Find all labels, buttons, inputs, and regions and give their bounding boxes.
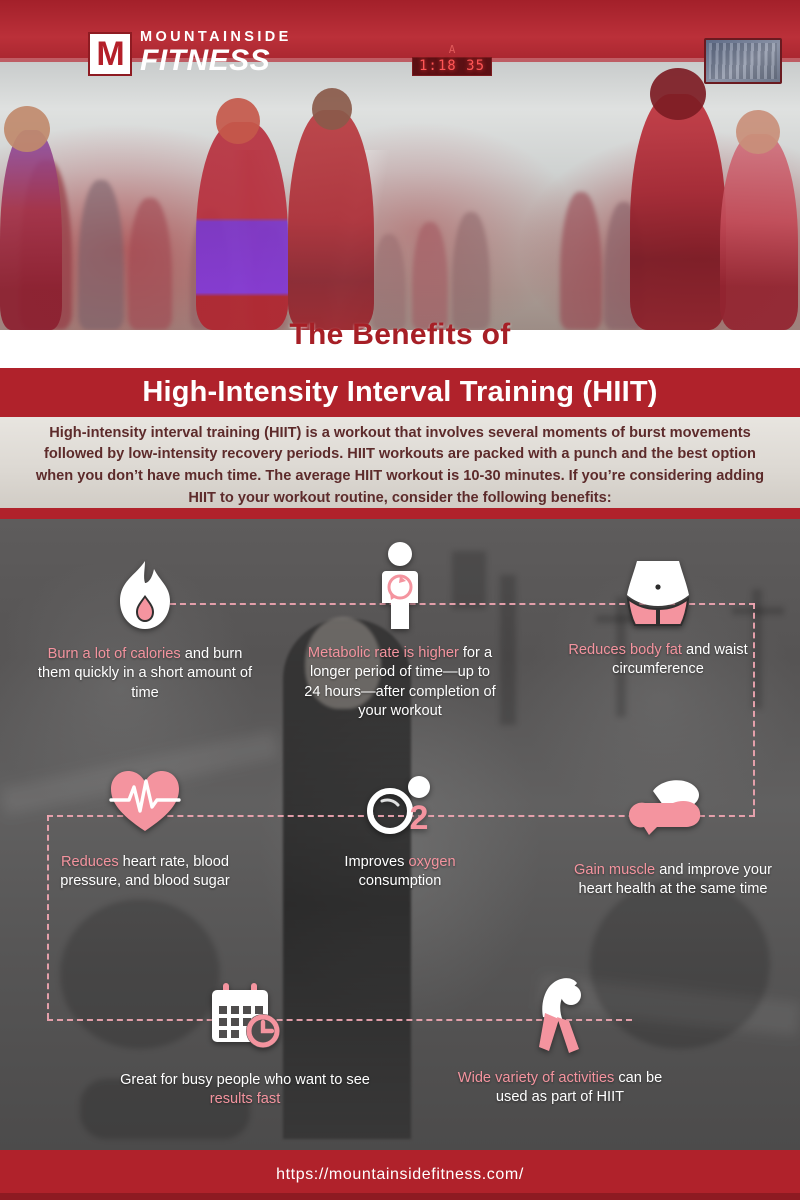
benefit-rest: consumption (359, 873, 442, 889)
benefit-heart-health: Reduces heart rate, blood pressure, and … (30, 767, 260, 892)
heart-pulse-icon (107, 767, 183, 835)
logo-text-top: MOUNTAINSIDE (140, 30, 292, 45)
benefit-time-efficient: Great for busy people who want to see re… (120, 981, 370, 1110)
benefit-prefix: Great for busy people who want to see (120, 1072, 370, 1088)
benefit-highlight: Burn a lot of calories (48, 646, 181, 662)
benefit-highlight: Reduces (61, 854, 119, 870)
benefit-highlight: oxygen (409, 854, 456, 870)
intro-divider-bar (0, 508, 800, 519)
benefit-muscle: Gain muscle and improve your heart healt… (568, 777, 778, 900)
title-line-1: The Benefits of (0, 318, 800, 352)
infographic-page: M MOUNTAINSIDE FITNESS A 1:18 35 The Ben… (0, 0, 800, 1200)
benefits-section: Burn a lot of calories and burn them qui… (0, 519, 800, 1150)
benefit-prefix: Improves (344, 854, 408, 870)
footer-bottom-edge (0, 1193, 800, 1200)
timer-label: A (412, 44, 492, 55)
logo-text-bottom: FITNESS (140, 46, 292, 76)
bicep-icon (627, 777, 719, 839)
title-bar: High-Intensity Interval Training (HIIT) (0, 368, 800, 417)
benefit-label: Gain muscle and improve your heart healt… (568, 861, 778, 900)
benefit-highlight: Reduces body fat (568, 642, 682, 658)
hero-photo: M MOUNTAINSIDE FITNESS A 1:18 35 (0, 0, 800, 330)
o2-icon: 2 (358, 771, 442, 837)
benefit-oxygen: 2 Improves oxygen consumption (310, 771, 490, 892)
svg-text:2: 2 (410, 799, 429, 837)
logo-mark-icon: M (88, 32, 132, 76)
brand-logo: M MOUNTAINSIDE FITNESS (88, 30, 292, 78)
intro-section: High-intensity interval training (HIIT) … (0, 417, 800, 515)
benefit-label: Metabolic rate is higher for a longer pe… (300, 644, 500, 721)
waist-icon (621, 559, 695, 627)
benefit-variety: Wide variety of activities can be used a… (440, 977, 680, 1108)
jumping-crowd (0, 90, 800, 330)
benefit-calories: Burn a lot of calories and burn them qui… (30, 559, 260, 703)
benefit-label: Great for busy people who want to see re… (120, 1071, 370, 1110)
benefit-label: Reduces body fat and waist circumference (558, 641, 758, 680)
benefit-label: Burn a lot of calories and burn them qui… (30, 645, 260, 703)
metabolism-person-icon (376, 541, 424, 631)
intro-paragraph: High-intensity interval training (HIIT) … (35, 423, 765, 509)
logo-mark-letter: M (96, 37, 123, 71)
calendar-clock-icon (204, 981, 286, 1051)
title-line-2: High-Intensity Interval Training (HIIT) (142, 376, 657, 409)
benefit-label: Reduces heart rate, blood pressure, and … (30, 853, 260, 892)
wall-tv-screen (704, 38, 782, 84)
flame-icon (114, 559, 176, 631)
benefit-highlight: results fast (210, 1091, 281, 1107)
footer-website-link[interactable]: https://mountainsidefitness.com/ (276, 1166, 524, 1184)
benefit-highlight: Metabolic rate is higher (308, 645, 459, 661)
benefit-metabolic-rate: Metabolic rate is higher for a longer pe… (300, 541, 500, 721)
timer-value: 1:18 35 (412, 57, 492, 76)
gym-timer-display: A 1:18 35 (412, 44, 492, 76)
benefit-label: Improves oxygen consumption (310, 853, 490, 892)
benefit-highlight: Gain muscle (574, 862, 655, 878)
benefit-highlight: Wide variety of activities (458, 1070, 615, 1086)
benefit-body-fat: Reduces body fat and waist circumference (558, 559, 758, 680)
benefit-label: Wide variety of activities can be used a… (440, 1069, 680, 1108)
stretch-person-icon (523, 977, 597, 1055)
